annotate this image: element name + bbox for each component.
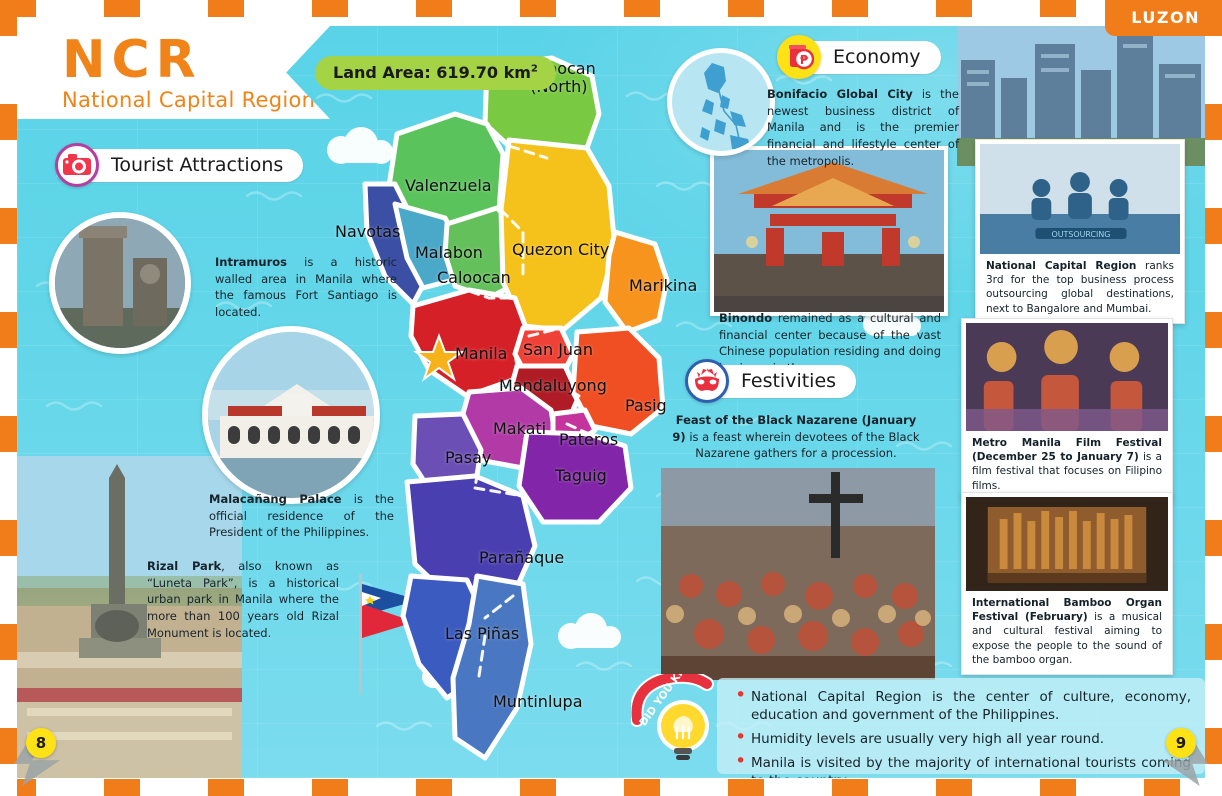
map-label-caloocan: Caloocan [437, 268, 511, 287]
land-area-label: Land Area: 619.70 km [333, 63, 531, 82]
svg-text:OUTSOURCING: OUTSOURCING [1052, 230, 1111, 239]
lightbulb-icon: DID YOU KNOW? [631, 674, 723, 770]
page-border-bottom [0, 779, 1222, 796]
mmff-card: Metro Manila Film Festival (December 25 … [961, 318, 1173, 501]
page-canvas: NCR National Capital Region Land Area: 6… [17, 26, 1205, 778]
page-border-left [0, 0, 17, 796]
intramuros-art [55, 218, 191, 354]
map-label-pateros: Pateros [559, 430, 618, 449]
svg-text:₱: ₱ [800, 53, 809, 67]
bamboo-organ-photo [966, 497, 1168, 591]
bamboo-organ-art [966, 497, 1168, 591]
page-title-banner: NCR National Capital Region [17, 26, 330, 119]
did-you-know-list: National Capital Region is the center of… [717, 678, 1205, 778]
bpo-card: OUTSOURCING National Capital Region rank… [975, 139, 1185, 324]
mmff-caption-lead: Metro Manila Film Festival (December 25 … [972, 437, 1162, 463]
bgc-note-lead: Bonifacio Global City [767, 87, 913, 101]
page-title: NCR [62, 34, 330, 86]
did-you-know-fact: Manila is visited by the majority of int… [735, 754, 1191, 778]
mmff-photo [966, 323, 1168, 431]
map-label-muntinlupa: Muntinlupa [493, 692, 583, 711]
mmff-caption: Metro Manila Film Festival (December 25 … [966, 431, 1168, 500]
intramuros-note: Intramuros is a historic walled area in … [215, 254, 397, 321]
peso-icon: ₱ [777, 35, 821, 79]
map-label-quezon-city: Quezon City [512, 240, 609, 259]
bpo-photo: OUTSOURCING [980, 144, 1180, 254]
philippines-inset-map [667, 48, 775, 156]
map-label-navotas: Navotas [335, 222, 400, 241]
page-border-right [1205, 0, 1222, 796]
region-tab-luzon[interactable]: LUZON [1105, 0, 1222, 36]
tourist-attractions-section-chip[interactable]: Tourist Attractions [55, 148, 303, 182]
festivities-label: Festivities [707, 365, 856, 398]
black-nazarene-note-body: is a feast wherein devotees of the Black… [686, 430, 920, 461]
map-label-pasay: Pasay [445, 448, 491, 467]
malacanang-palace-photo [202, 326, 380, 504]
economy-section-chip[interactable]: ₱ Economy [777, 40, 941, 74]
did-you-know-fact: National Capital Region is the center of… [735, 688, 1191, 724]
rizal-park-note: Rizal Park, also known as “Luneta Park”,… [147, 558, 339, 641]
map-label-paranaque: Parañaque [479, 548, 564, 567]
did-you-know-panel: National Capital Region is the center of… [717, 678, 1205, 774]
map-label-pasig: Pasig [625, 396, 667, 415]
black-nazarene-note: Feast of the Black Nazarene (January 9) … [671, 412, 921, 462]
mmff-photo-art [966, 323, 1168, 431]
rizal-park-note-lead: Rizal Park [147, 559, 221, 573]
mask-icon [685, 359, 729, 403]
binondo-note-lead: Binondo [719, 311, 772, 325]
page-subtitle: National Capital Region [62, 88, 330, 112]
bpo-caption-lead: National Capital Region [986, 260, 1136, 272]
intramuros-photo [49, 212, 191, 354]
map-label-makati: Makati [493, 419, 546, 438]
festivities-section-chip[interactable]: Festivities [685, 364, 856, 398]
did-you-know-badge: DID YOU KNOW? [631, 674, 723, 770]
map-label-san-juan: San Juan [523, 340, 593, 359]
did-you-know-fact: Humidity levels are usually very high al… [735, 730, 1191, 748]
malacanang-note-lead: Malacañang Palace [209, 492, 342, 506]
bpo-caption: National Capital Region ranks 3rd for th… [980, 254, 1180, 323]
bgc-note: Bonifacio Global City is the newest busi… [767, 86, 959, 169]
intramuros-note-lead: Intramuros [215, 255, 287, 269]
bamboo-organ-card: International Bamboo Organ Festival (Feb… [961, 492, 1173, 675]
map-label-marikina: Marikina [629, 276, 697, 295]
malacanang-note: Malacañang Palace is the official reside… [209, 491, 394, 541]
map-label-mandaluyong: Mandaluyong [499, 376, 607, 395]
philippines-outline-icon [672, 53, 775, 156]
land-area-chip: Land Area: 619.70 km2 [315, 56, 556, 90]
bamboo-organ-caption: International Bamboo Organ Festival (Feb… [966, 591, 1168, 674]
map-label-malabon: Malabon [415, 243, 483, 262]
page-number-left: 8 [26, 728, 56, 758]
camera-icon [55, 143, 99, 187]
map-label-taguig: Taguig [555, 466, 607, 485]
map-label-valenzuela: Valenzuela [405, 176, 492, 195]
page-border-top [0, 0, 1222, 17]
map-label-las-pinas: Las Piñas [445, 624, 519, 643]
map-label-manila: Manila [455, 344, 507, 363]
bpo-photo-art: OUTSOURCING [980, 144, 1180, 254]
tourist-attractions-label: Tourist Attractions [77, 149, 303, 182]
land-area-exponent: 2 [531, 64, 538, 75]
page-number-right: 9 [1166, 728, 1196, 758]
infographic-page: NCR National Capital Region Land Area: 6… [0, 0, 1222, 796]
